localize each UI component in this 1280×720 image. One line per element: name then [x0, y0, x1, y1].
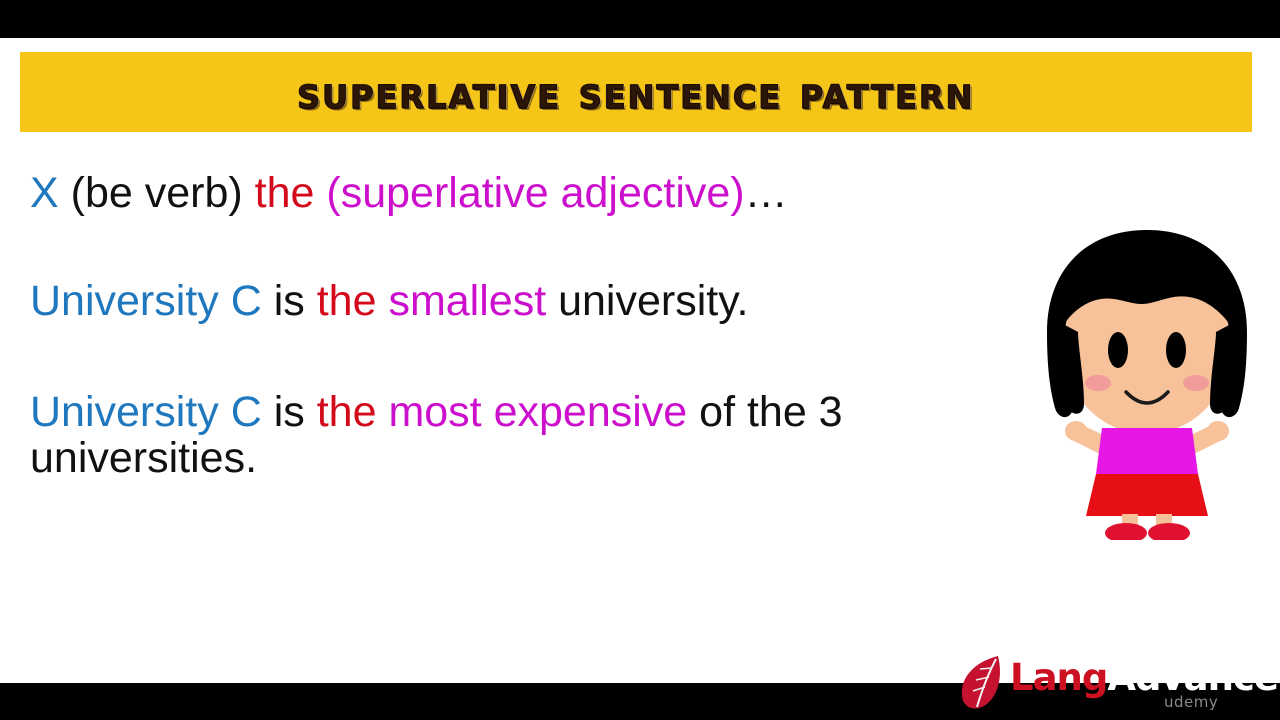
pattern-line: X (be verb) the (superlative adjective)…: [30, 170, 1040, 216]
title-banner: Superlative Sentence Pattern: [20, 52, 1252, 132]
brand-logo[interactable]: LangAdvance.com udemy: [952, 652, 1270, 714]
cartoon-girl-icon: [1022, 228, 1272, 540]
pattern-article: the: [255, 169, 315, 217]
example1-adjective: smallest: [377, 277, 547, 325]
cartoon-girl-illustration: [1022, 228, 1272, 540]
letterbox-top: [0, 0, 1280, 38]
example1-article: the: [317, 277, 377, 325]
pattern-subject: X: [30, 169, 59, 217]
pattern-ellipsis: …: [745, 169, 788, 217]
example-line-2: University C is the most expensive of th…: [30, 389, 1040, 482]
example2-adjective: most expensive: [377, 388, 688, 436]
example1-subject: University C: [30, 277, 262, 325]
slide-canvas: Superlative Sentence Pattern X (be verb)…: [0, 0, 1280, 720]
example2-subject: University C: [30, 388, 262, 436]
example2-article: the: [317, 388, 377, 436]
example-line-1: University C is the smallest university.: [30, 278, 1040, 324]
pattern-be-verb: (be verb): [59, 169, 255, 217]
page-title: Superlative Sentence Pattern: [297, 70, 974, 115]
example2-verb: is: [262, 388, 317, 436]
logo-wordmark: LangAdvance.com: [1010, 658, 1280, 698]
pattern-adjective: (superlative adjective): [314, 169, 744, 217]
leaf-icon: [952, 652, 1012, 714]
lesson-body: X (be verb) the (superlative adjective)……: [30, 170, 1040, 482]
logo-platform-label: udemy: [1164, 693, 1218, 711]
example1-verb: is: [262, 277, 317, 325]
logo-brand-first: Lang: [1010, 656, 1107, 699]
example1-rest: university.: [546, 277, 748, 325]
